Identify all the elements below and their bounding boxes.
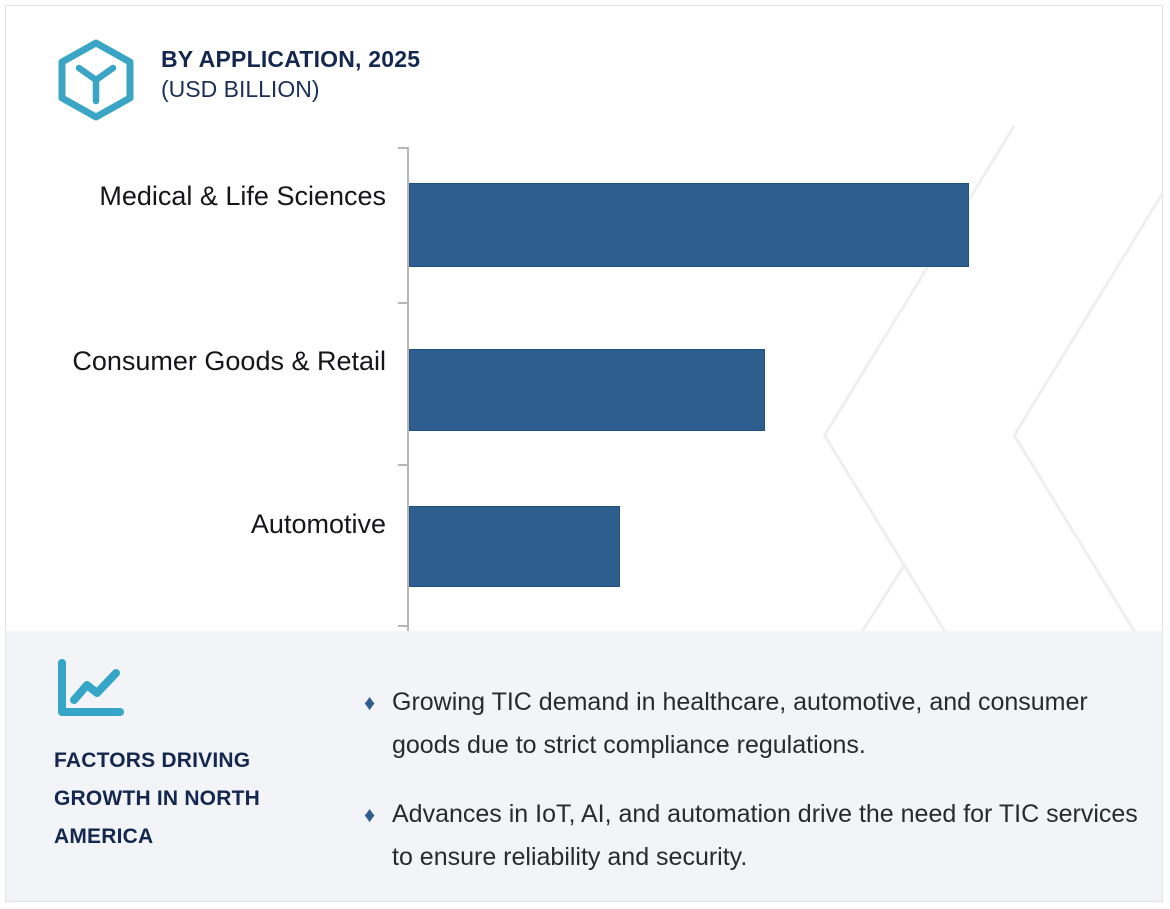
- line-chart-growth-icon: [54, 658, 124, 720]
- bar-category-label: Medical & Life Sciences: [36, 176, 386, 217]
- bar-category-label: Automotive: [36, 504, 386, 545]
- axis-tick: [398, 147, 408, 149]
- bar-chart: Medical & Life Sciences Consumer Goods &…: [6, 136, 1162, 636]
- list-item: ♦ Growing TIC demand in healthcare, auto…: [364, 681, 1140, 767]
- factors-heading: FACTORS DRIVING GROWTH IN NORTH AMERICA: [54, 742, 344, 856]
- factors-bullet-list: ♦ Growing TIC demand in healthcare, auto…: [364, 681, 1140, 902]
- title-block: BY APPLICATION, 2025 (USD BILLION): [161, 44, 420, 105]
- axis-tick: [398, 625, 408, 627]
- bar-medical-life-sciences[interactable]: [409, 183, 969, 267]
- page-subtitle: (USD BILLION): [161, 74, 420, 105]
- list-item-text: Advances in IoT, AI, and automation driv…: [392, 793, 1140, 879]
- factors-heading-block: FACTORS DRIVING GROWTH IN NORTH AMERICA: [54, 658, 344, 856]
- bar-consumer-goods-retail[interactable]: [409, 349, 765, 431]
- axis-tick: [398, 464, 408, 466]
- header: BY APPLICATION, 2025 (USD BILLION): [6, 6, 1162, 136]
- infographic-card: BY APPLICATION, 2025 (USD BILLION) Medic…: [5, 5, 1163, 902]
- bar-category-label: Consumer Goods & Retail: [36, 341, 386, 382]
- bar-automotive[interactable]: [409, 506, 620, 587]
- hexagon-y-logo-icon: [54, 38, 138, 122]
- list-item: ♦ Advances in IoT, AI, and automation dr…: [364, 793, 1140, 879]
- list-item-text: Growing TIC demand in healthcare, automo…: [392, 681, 1140, 767]
- diamond-bullet-icon: ♦: [364, 793, 392, 836]
- axis-tick: [398, 302, 408, 304]
- factors-panel: FACTORS DRIVING GROWTH IN NORTH AMERICA …: [6, 631, 1162, 902]
- diamond-bullet-icon: ♦: [364, 681, 392, 724]
- page-title: BY APPLICATION, 2025: [161, 44, 420, 74]
